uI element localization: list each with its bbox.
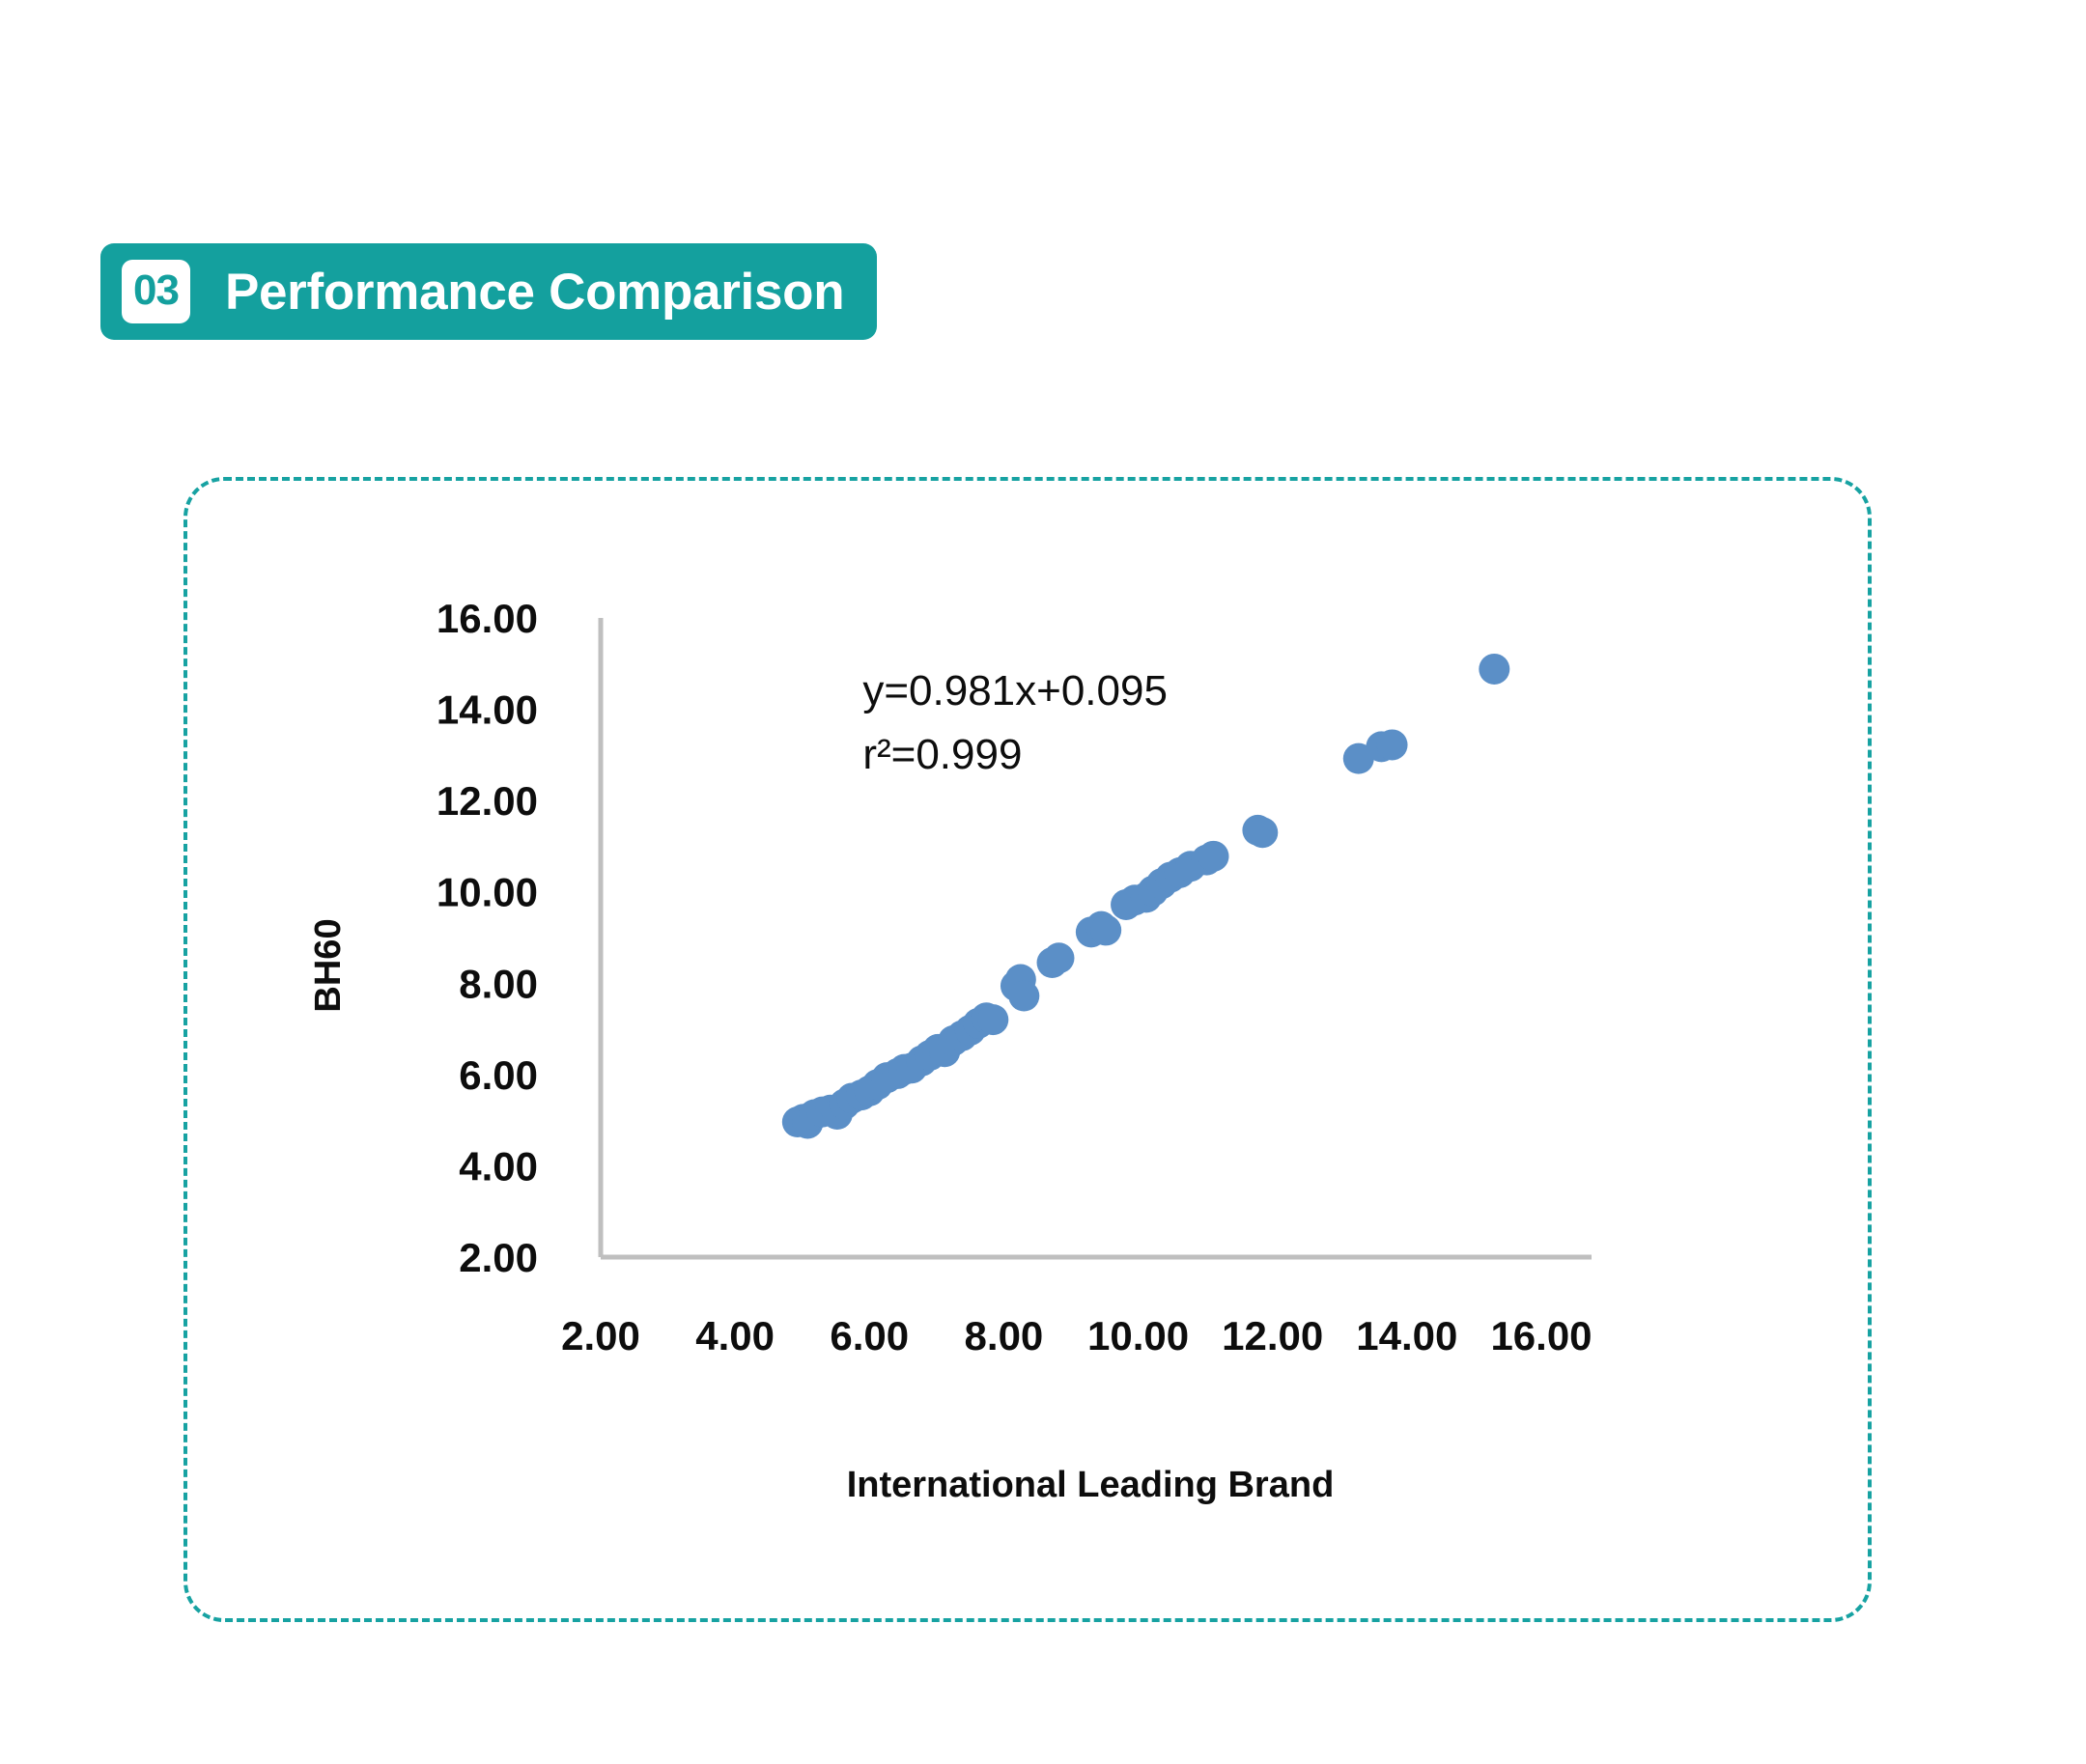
section-header: 03 Performance Comparison [100,243,877,340]
section-number-badge: 03 [122,260,190,323]
chart-card-container [183,477,1872,1622]
page-title: Performance Comparison [225,263,844,322]
